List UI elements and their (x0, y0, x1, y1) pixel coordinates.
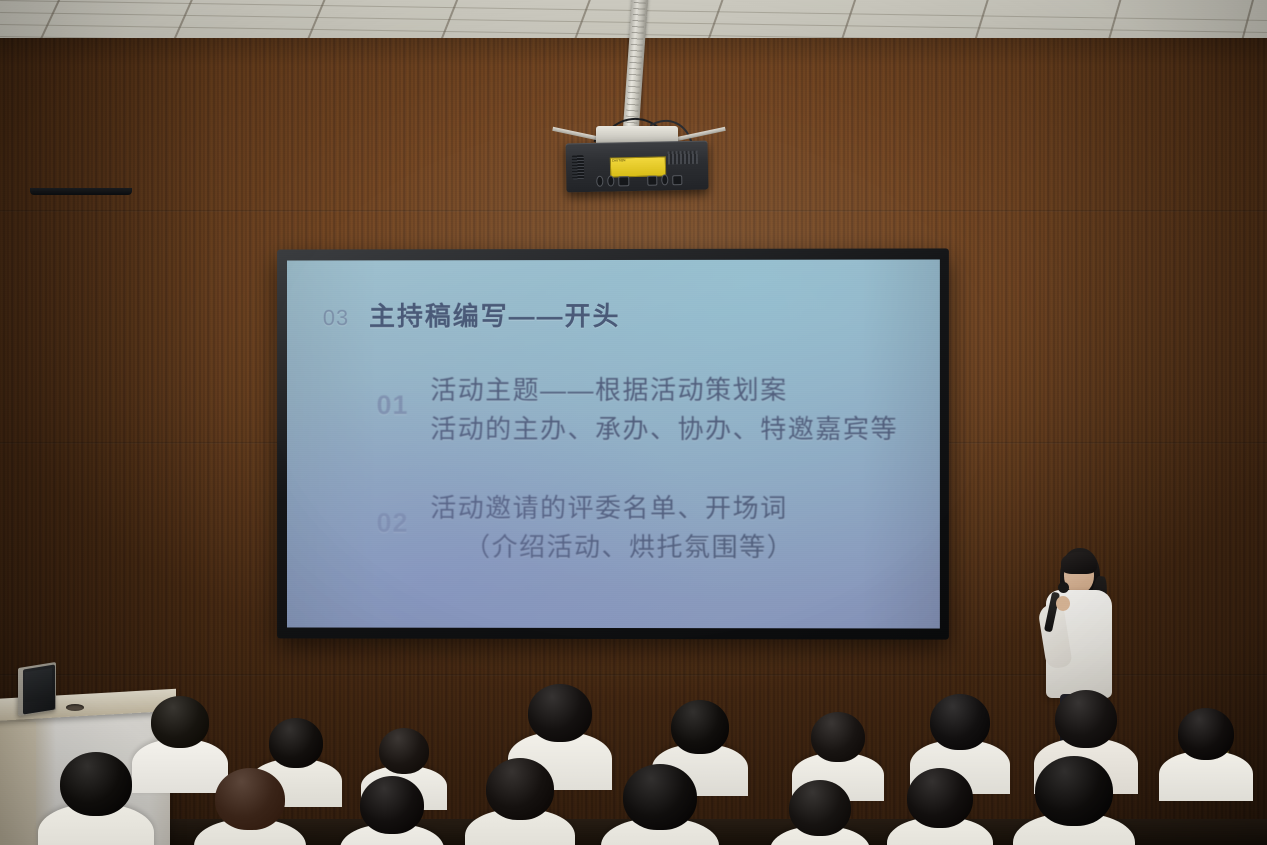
audience-member-head (1178, 708, 1234, 760)
slide-section-number: 03 (323, 305, 349, 331)
lecture-hall-photo: CAUTION 03 主持稿编写——开头 01 活动主题——根据活动策划案 活动… (0, 0, 1267, 845)
projector-ports (596, 174, 682, 187)
audience-member-head (379, 728, 429, 774)
audience-member-head (671, 700, 729, 754)
audience-member-head (151, 696, 209, 748)
projection-screen-frame: 03 主持稿编写——开头 01 活动主题——根据活动策划案 活动的主办、承办、协… (277, 248, 949, 639)
slide-bullet-lines: 活动邀请的评委名单、开场词 （介绍活动、烘托氛围等） (430, 490, 794, 566)
audience-member-head (811, 712, 865, 762)
audience-member-head (215, 768, 285, 830)
projector-vent-icon (572, 155, 584, 179)
audience-member-head (486, 758, 554, 820)
audience-member-head (60, 752, 132, 816)
slide-bullet-line: 活动邀请的评委名单、开场词 (430, 490, 794, 527)
presenter-hair-front (1061, 552, 1097, 574)
audience-member-head (1055, 690, 1117, 748)
projected-slide: 03 主持稿编写——开头 01 活动主题——根据活动策划案 活动的主办、承办、协… (287, 259, 940, 628)
slide-title-text: 主持稿编写——开头 (369, 296, 620, 333)
presenter-hand (1056, 596, 1070, 611)
slide-bullet-line: 活动的主办、承办、协办、特邀嘉宾等 (430, 411, 898, 448)
slide-bullet-02: 02 活动邀请的评委名单、开场词 （介绍活动、烘托氛围等） (377, 490, 795, 566)
audience-member-head (528, 684, 592, 742)
audience-member-head (623, 764, 697, 830)
slide-bullet-number: 02 (377, 490, 409, 539)
slide-bullet-line: 活动主题——根据活动策划案 (430, 372, 898, 409)
audience-member-head (360, 776, 424, 834)
audience-member-head (930, 694, 990, 750)
projector-speaker-grille (668, 151, 698, 165)
audience-rows (0, 660, 1267, 845)
slide-bullet-line: （介绍活动、烘托氛围等） (430, 529, 794, 566)
audience-member-head (789, 780, 851, 836)
slide-bullet-number: 01 (377, 372, 409, 421)
audience-member-head (907, 768, 973, 828)
slide-bullet-lines: 活动主题——根据活动策划案 活动的主办、承办、协办、特邀嘉宾等 (430, 372, 898, 448)
audience-member-head (1035, 756, 1113, 826)
ceiling-projector: CAUTION (566, 141, 709, 193)
slide-bullet-01: 01 活动主题——根据活动策划案 活动的主办、承办、协办、特邀嘉宾等 (377, 372, 899, 448)
audience-member-head (269, 718, 323, 768)
microphone-head-icon (1058, 582, 1069, 593)
projector-underside (30, 188, 132, 195)
slide-title-row: 03 主持稿编写——开头 (323, 296, 621, 333)
